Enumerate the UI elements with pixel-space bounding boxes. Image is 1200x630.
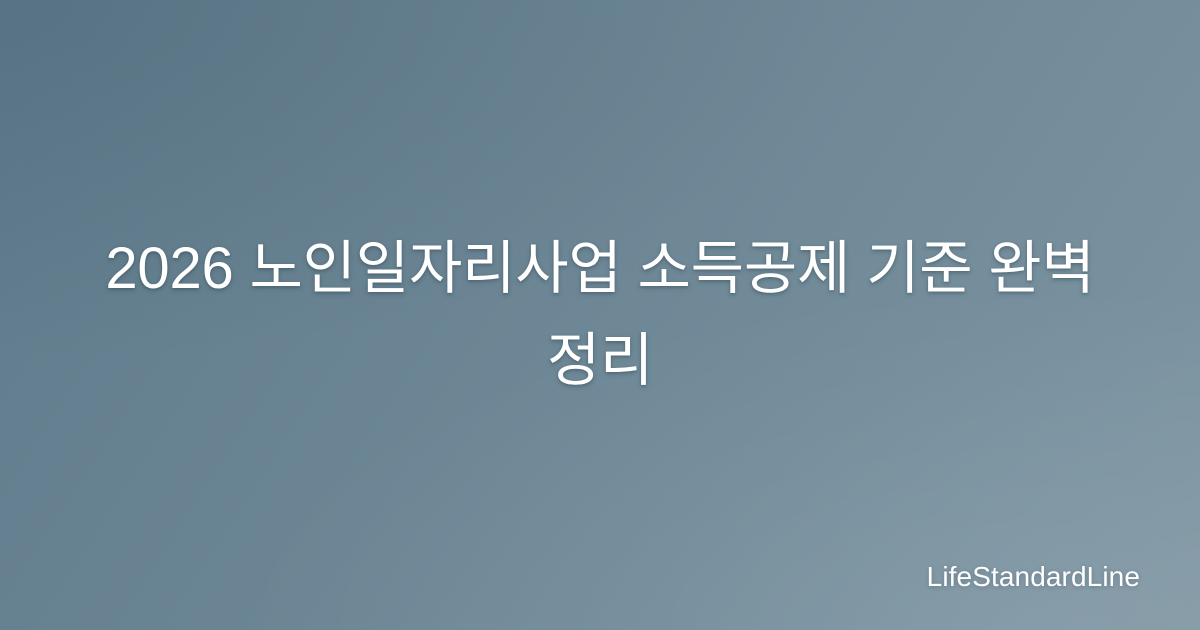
brand-watermark: LifeStandardLine	[927, 563, 1140, 591]
og-image-card: 2026 노인일자리사업 소득공제 기준 완벽 정리 LifeStandardL…	[0, 0, 1200, 630]
title-block: 2026 노인일자리사업 소득공제 기준 완벽 정리	[0, 0, 1200, 630]
page-title: 2026 노인일자리사업 소득공제 기준 완벽 정리	[74, 223, 1126, 406]
